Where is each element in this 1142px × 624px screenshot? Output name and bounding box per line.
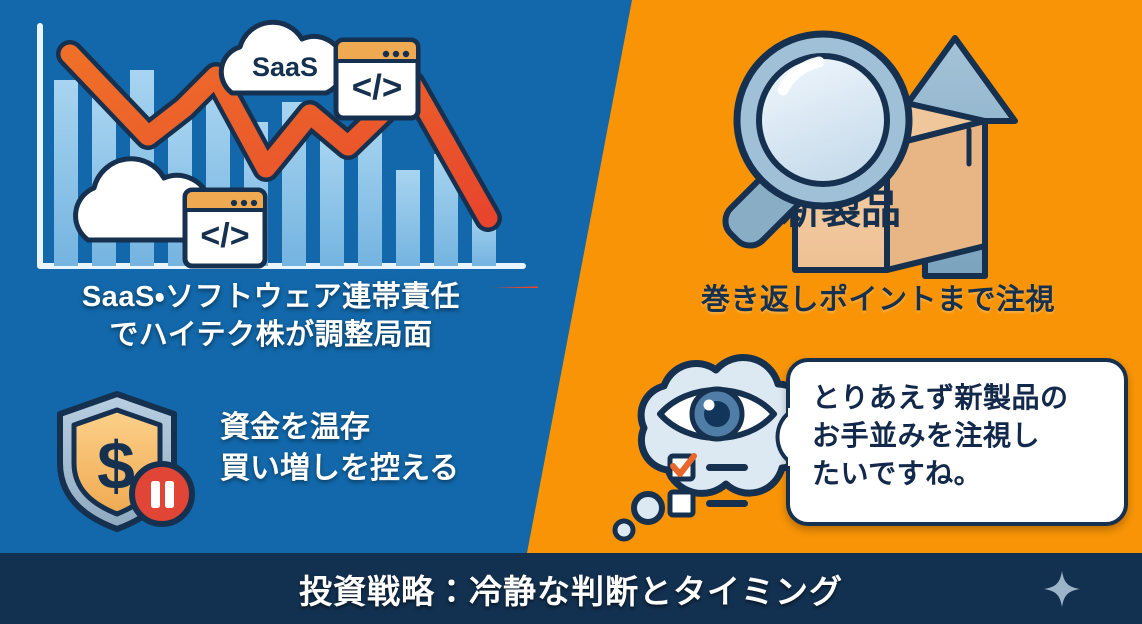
shield-text-line1: 資金を温存: [220, 407, 540, 448]
saas-label: SaaS: [252, 52, 318, 82]
checklist-line-1: [706, 464, 748, 471]
right-headline-text: 巻き返しポイントまで注視: [701, 284, 1055, 316]
code-window-icon-top: </>: [336, 40, 418, 118]
speech-bubble-text: とりあえず新製品の お手並みを注視し たいですね。: [812, 379, 1110, 493]
shield-dollar-pause-icon: $: [50, 389, 200, 535]
declining-stock-chart: </> SaaS </>: [18, 18, 538, 288]
infographic-canvas: </> SaaS </> SaaS・ソフトウェア連帯責任 でハイテク株が調整局面: [0, 0, 1142, 624]
left-headline-line2: でハイテク株が調整局面: [16, 316, 526, 354]
right-headline: 巻き返しポイントまで注視: [628, 282, 1128, 320]
speech-line-2: お手並みを注視し: [812, 417, 1110, 455]
thought-bubble-dot-large: [634, 494, 662, 522]
code-window-icon: </>: [185, 190, 265, 266]
checkbox-unchecked: [670, 492, 693, 515]
capital-preservation-row: $ 資金を温存 買い増しを控える: [30, 385, 530, 535]
code-glyph-mid: </>: [200, 217, 249, 255]
capital-preservation-text: 資金を温存 買い増しを控える: [220, 407, 540, 490]
bottom-banner: 投資戦略：冷静な判断とタイミング: [0, 553, 1142, 624]
banner-title: 投資戦略：冷静な判断とタイミング: [299, 565, 843, 613]
new-product-inspection-graphic: 新製品: [655, 18, 1075, 280]
speech-bubble-tail: [768, 406, 794, 468]
pause-bar-left: [151, 481, 160, 508]
speech-line-1: とりあえず新製品の: [812, 379, 1110, 417]
left-headline-line1: SaaS・ソフトウェア連帯責任: [16, 278, 526, 316]
sparkle-icon: [1044, 571, 1080, 607]
speech-line-3: たいですね。: [812, 455, 1110, 493]
code-glyph-top: </>: [352, 68, 403, 107]
left-headline: SaaS・ソフトウェア連帯責任 でハイテク株が調整局面: [16, 278, 526, 355]
thought-bubble-dot-small: [615, 521, 633, 539]
speech-bubble: とりあえず新製品の お手並みを注視し たいですね。: [786, 358, 1128, 526]
checklist-line-2: [706, 500, 748, 507]
saas-cloud-badge: SaaS: [221, 22, 343, 93]
pause-bar-right: [165, 481, 174, 508]
shield-text-line2: 買い増しを控える: [220, 448, 540, 489]
